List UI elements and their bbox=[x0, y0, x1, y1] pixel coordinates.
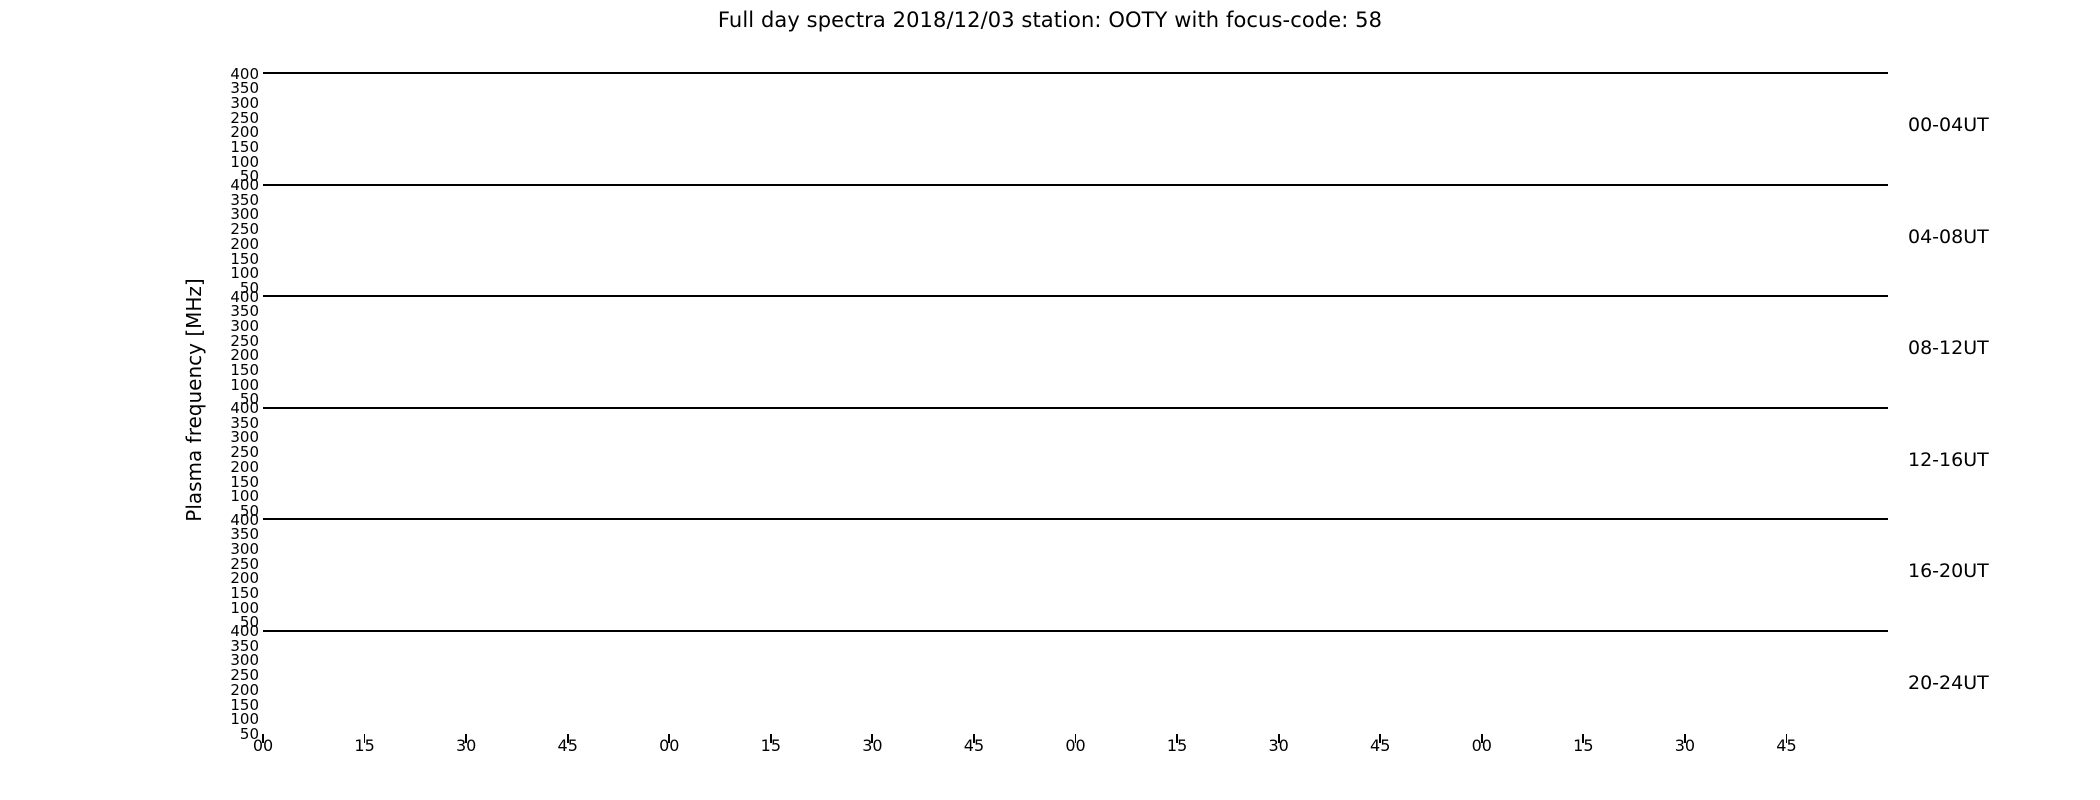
row-label-08-12ut: 08-12UT bbox=[1908, 337, 1989, 359]
x-axis-tick bbox=[1786, 734, 1788, 743]
x-axis-tick bbox=[567, 734, 569, 743]
x-axis-tick bbox=[364, 734, 366, 743]
x-axis-tick bbox=[770, 734, 772, 743]
x-axis-tick bbox=[1379, 734, 1381, 743]
spectrogram-panel[interactable] bbox=[263, 407, 1888, 409]
spectrogram-panel[interactable] bbox=[263, 295, 1888, 297]
x-axis-tick bbox=[1582, 734, 1584, 743]
x-axis-tick bbox=[1075, 734, 1077, 743]
x-axis-tick bbox=[1176, 734, 1178, 743]
y-axis-label: Plasma frequency [MHz] bbox=[182, 0, 206, 180]
x-axis-tick bbox=[262, 734, 264, 743]
row-label-16-20ut: 16-20UT bbox=[1908, 560, 1989, 582]
x-axis-tick bbox=[973, 734, 975, 743]
page-title: Full day spectra 2018/12/03 station: OOT… bbox=[0, 8, 2100, 32]
row-label-00-04ut: 00-04UT bbox=[1908, 114, 1989, 136]
spectrogram-panel[interactable] bbox=[263, 184, 1888, 186]
spectrogram-figure: Full day spectra 2018/12/03 station: OOT… bbox=[0, 0, 2100, 800]
x-axis-tick bbox=[465, 734, 467, 743]
x-axis-tick bbox=[1278, 734, 1280, 743]
x-axis-tick bbox=[668, 734, 670, 743]
y-axis-label-text: Plasma frequency [MHz] bbox=[182, 180, 206, 620]
spectrogram-panel[interactable] bbox=[263, 518, 1888, 520]
x-axis-tick bbox=[1481, 734, 1483, 743]
row-label-20-24ut: 20-24UT bbox=[1908, 672, 1989, 694]
spectrogram-panel[interactable] bbox=[263, 72, 1888, 74]
x-axis-tick bbox=[871, 734, 873, 743]
y-axis-tick-label: 50 bbox=[240, 725, 259, 743]
row-label-04-08ut: 04-08UT bbox=[1908, 226, 1989, 248]
row-label-12-16ut: 12-16UT bbox=[1908, 449, 1989, 471]
x-axis-tick bbox=[1684, 734, 1686, 743]
spectrogram-panel[interactable] bbox=[263, 630, 1888, 632]
